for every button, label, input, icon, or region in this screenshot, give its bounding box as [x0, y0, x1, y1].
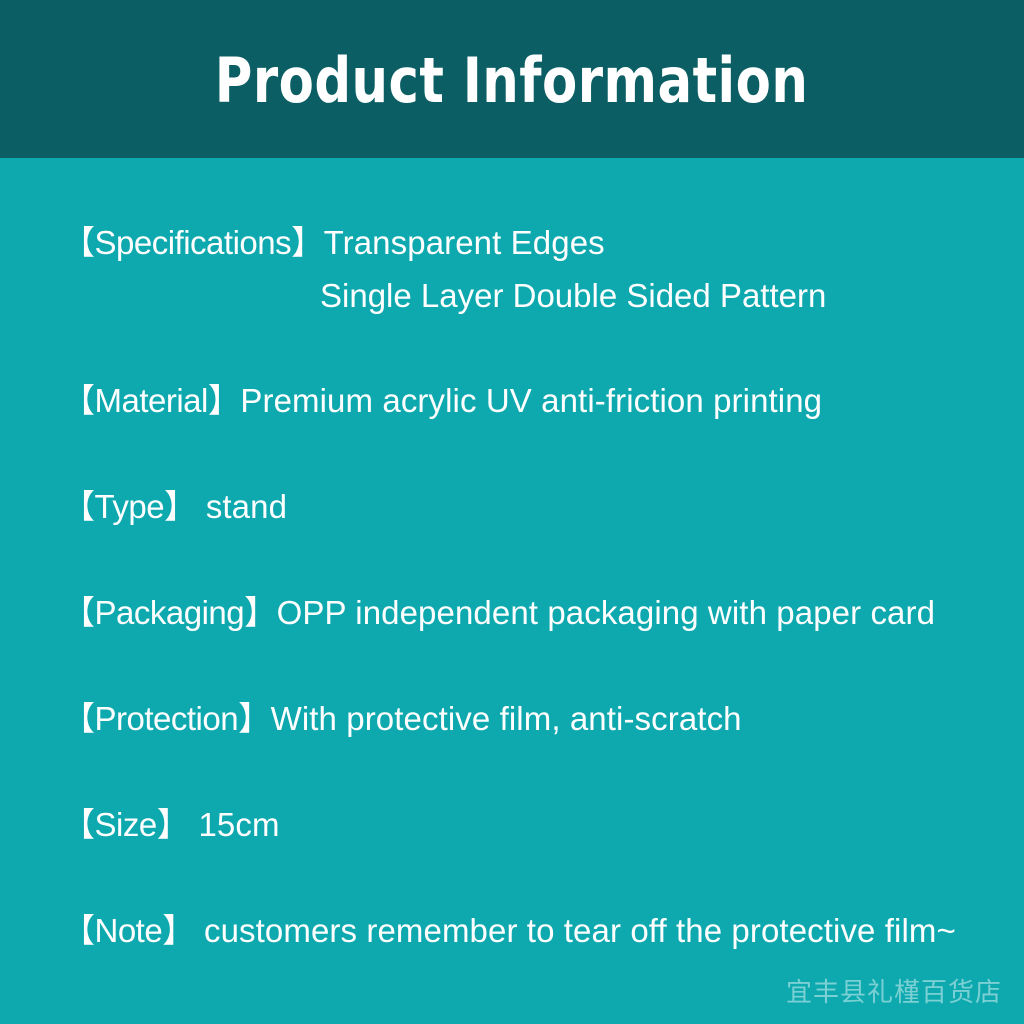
spec-label-specifications: 【Specifications】: [62, 224, 324, 261]
spec-value-specifications-continuation: Single Layer Double Sided Pattern: [320, 279, 826, 312]
spec-value-material: Premium acrylic UV anti-friction printin…: [240, 382, 822, 419]
spec-row-note: 【Note】 customers remember to tear off th…: [62, 914, 956, 947]
spec-label-size: 【Size】: [62, 806, 189, 843]
spec-row-size: 【Size】 15cm: [62, 808, 280, 841]
spec-value-note: customers remember to tear off the prote…: [195, 912, 956, 949]
shop-watermark: 宜丰县礼槿百货店: [786, 980, 1002, 1006]
spec-label-type: 【Type】: [62, 488, 197, 525]
specifications-body: 【Specifications】Transparent Edges Single…: [0, 158, 1024, 1024]
spec-row-specifications: 【Specifications】Transparent Edges: [62, 226, 605, 259]
spec-label-protection: 【Protection】: [62, 700, 271, 737]
page-title: Product Information: [215, 50, 809, 112]
spec-row-packaging: 【Packaging】OPP independent packaging wit…: [62, 596, 935, 629]
spec-row-material: 【Material】Premium acrylic UV anti-fricti…: [62, 384, 822, 417]
product-information-page: Product Information 【Specifications】Tran…: [0, 0, 1024, 1024]
spec-value-size: 15cm: [189, 806, 279, 843]
spec-label-note: 【Note】: [62, 912, 195, 949]
spec-value-protection: With protective film, anti-scratch: [271, 700, 742, 737]
header-banner: Product Information: [0, 0, 1024, 158]
spec-value-type: stand: [197, 488, 288, 525]
spec-label-material: 【Material】: [62, 382, 240, 419]
spec-value-specifications: Transparent Edges: [324, 224, 605, 261]
spec-row-protection: 【Protection】With protective film, anti-s…: [62, 702, 742, 735]
spec-row-type: 【Type】 stand: [62, 490, 287, 523]
spec-label-packaging: 【Packaging】: [62, 594, 277, 631]
spec-value-packaging: OPP independent packaging with paper car…: [277, 594, 935, 631]
